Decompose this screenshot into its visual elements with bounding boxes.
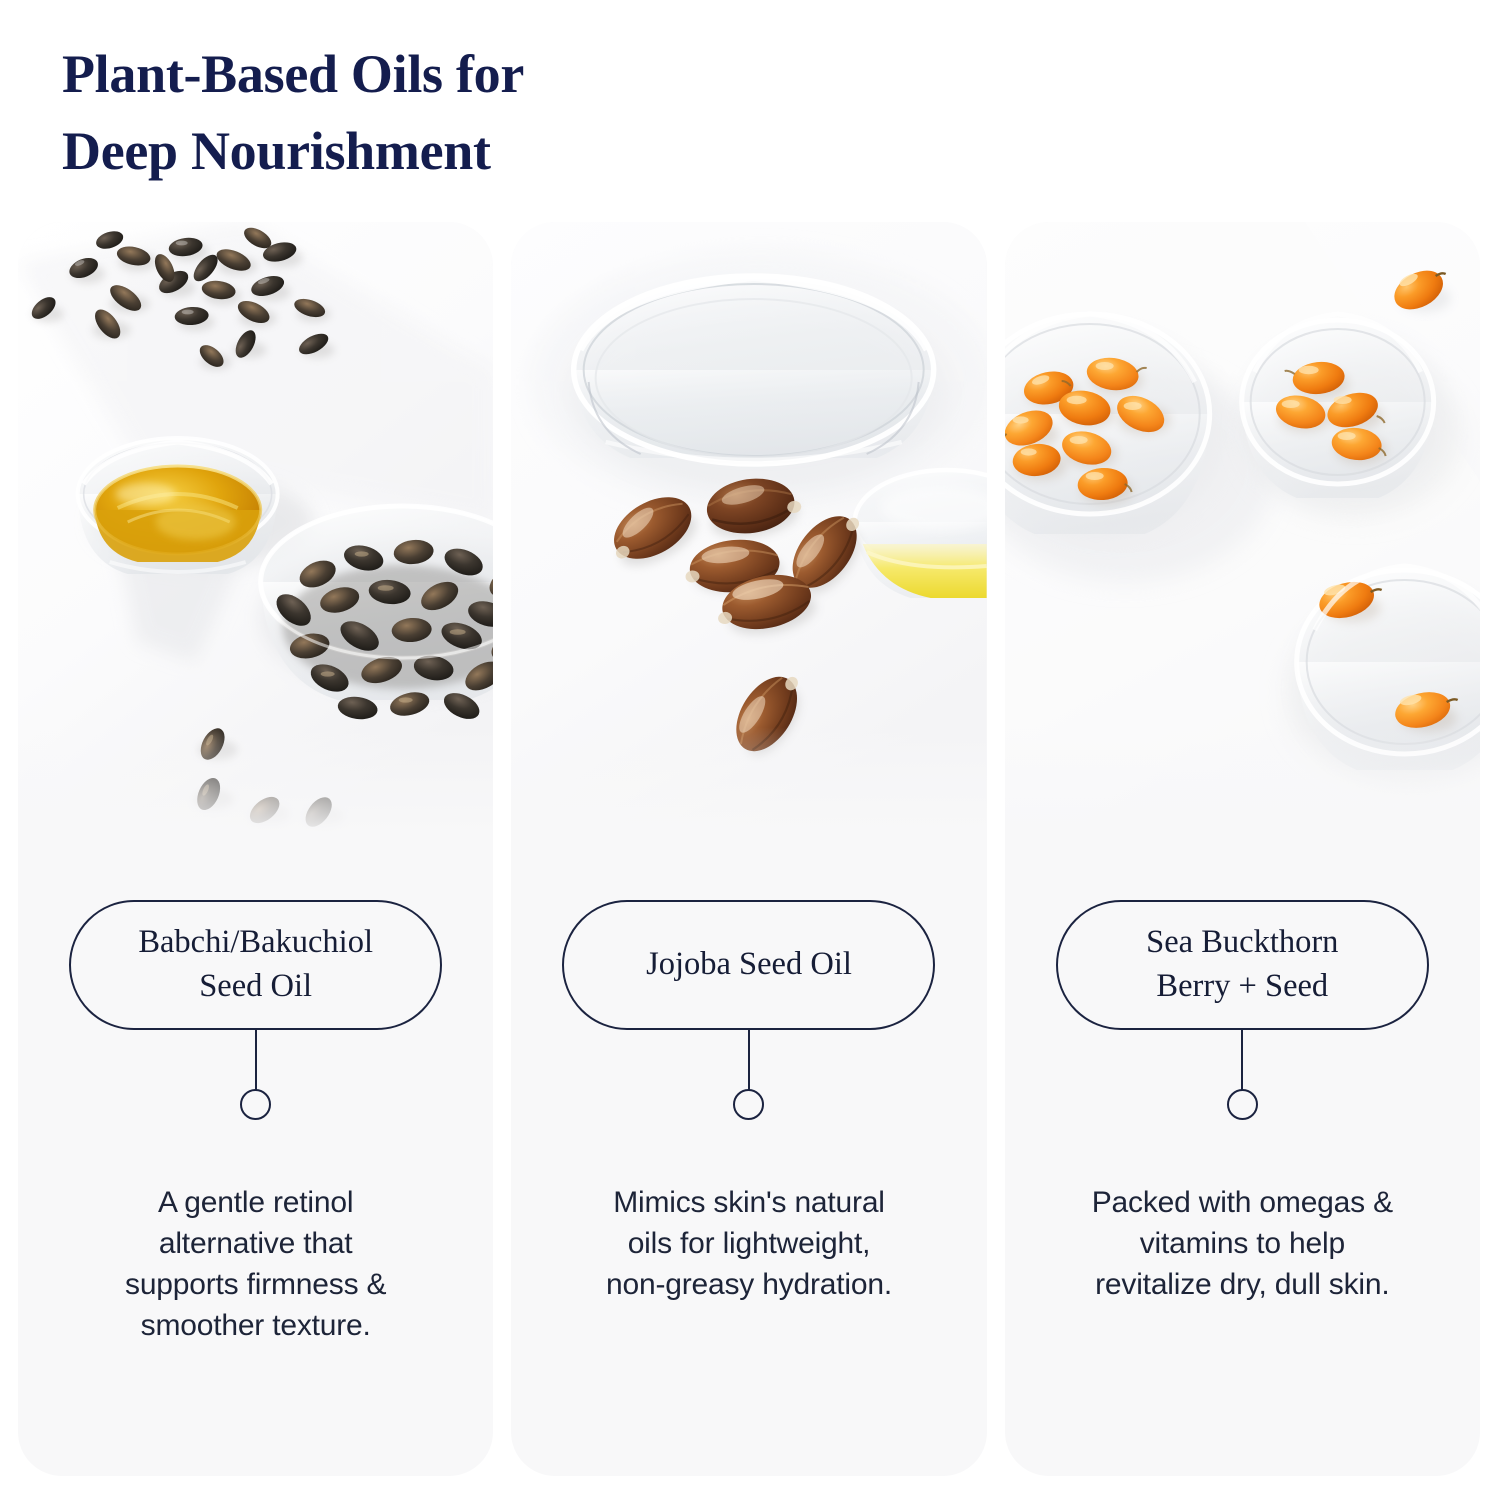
connector-node-circle-icon xyxy=(1227,1089,1258,1120)
oil-bowl xyxy=(78,438,278,574)
label-group-sea-buckthorn: Sea Buckthorn Berry + Seed xyxy=(1005,900,1480,1120)
connector-node-circle-icon xyxy=(733,1089,764,1120)
connector-node-circle-icon xyxy=(240,1089,271,1120)
connector-line xyxy=(748,1030,750,1090)
ingredient-pill-label: Babchi/Bakuchiol Seed Oil xyxy=(138,921,373,1009)
ingredient-description-babchi: A gentle retinol alternative that suppor… xyxy=(18,1182,493,1346)
ingredient-pill-jojoba[interactable]: Jojoba Seed Oil xyxy=(562,900,935,1030)
connector-line xyxy=(1241,1030,1243,1090)
ingredient-pill-babchi[interactable]: Babchi/Bakuchiol Seed Oil xyxy=(69,900,442,1030)
babchi-photo-svg xyxy=(18,222,493,847)
jojoba-seeds-photo xyxy=(511,222,986,847)
label-group-jojoba: Jojoba Seed Oil xyxy=(511,900,986,1120)
label-group-babchi: Babchi/Bakuchiol Seed Oil xyxy=(18,900,493,1120)
infographic-root: Plant-Based Oils for Deep Nourishment xyxy=(0,0,1500,1500)
sea-buckthorn-berries-photo xyxy=(1005,222,1480,847)
ingredient-columns: Babchi/Bakuchiol Seed Oil A gentle retin… xyxy=(18,222,1480,1476)
empty-petri-dish xyxy=(571,276,947,494)
connector-line xyxy=(255,1030,257,1090)
ingredient-pill-label: Jojoba Seed Oil xyxy=(646,943,852,987)
ingredient-card-sea-buckthorn[interactable]: Sea Buckthorn Berry + Seed Packed with o… xyxy=(1005,222,1480,1476)
ingredient-card-babchi[interactable]: Babchi/Bakuchiol Seed Oil A gentle retin… xyxy=(18,222,493,1476)
ingredient-description-sea-buckthorn: Packed with omegas & vitamins to help re… xyxy=(1005,1182,1480,1305)
ingredient-card-jojoba[interactable]: Jojoba Seed Oil Mimics skin's natural oi… xyxy=(511,222,986,1476)
ingredient-pill-label: Sea Buckthorn Berry + Seed xyxy=(1146,921,1338,1009)
page-title: Plant-Based Oils for Deep Nourishment xyxy=(62,36,962,189)
ingredient-description-jojoba: Mimics skin's natural oils for lightweig… xyxy=(511,1182,986,1305)
ingredient-pill-sea-buckthorn[interactable]: Sea Buckthorn Berry + Seed xyxy=(1056,900,1429,1030)
babchi-seeds-and-oil-photo xyxy=(18,222,493,847)
sea-buckthorn-photo-svg xyxy=(1005,222,1480,847)
jojoba-photo-svg xyxy=(511,222,986,847)
